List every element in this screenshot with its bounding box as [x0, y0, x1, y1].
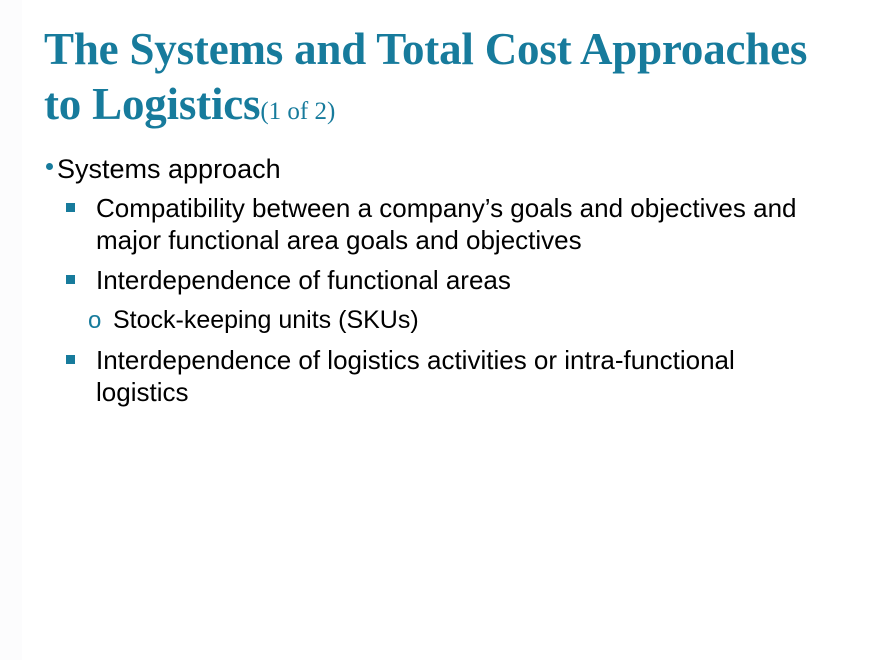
round-dot-bullet-icon — [46, 163, 53, 170]
title-line-1: The Systems and Total Cost Approaches — [44, 22, 844, 77]
square-bullet-icon — [66, 355, 75, 364]
list-item-text: Interdependence of logistics activities … — [96, 344, 844, 408]
title-line-2-text: to Logistics — [44, 79, 260, 129]
list-item: Compatibility between a company’s goals … — [44, 192, 844, 256]
list-item-text: Systems approach — [57, 152, 844, 186]
title-line-2: to Logistics(1 of 2) — [44, 77, 844, 139]
list-item-text: Compatibility between a company’s goals … — [96, 192, 844, 256]
list-item: Interdependence of logistics activities … — [44, 344, 844, 408]
square-bullet-icon — [66, 275, 75, 284]
list-item: o Stock-keeping units (SKUs) — [44, 304, 844, 336]
square-bullet-icon — [66, 203, 75, 212]
list-item: Interdependence of functional areas — [44, 264, 844, 296]
slide-title: The Systems and Total Cost Approaches to… — [44, 22, 844, 139]
slide-canvas: The Systems and Total Cost Approaches to… — [0, 0, 880, 660]
slide-body: Systems approach Compatibility between a… — [44, 152, 844, 416]
list-item-text: Interdependence of functional areas — [96, 264, 844, 296]
list-item-text: Stock-keeping units (SKUs) — [113, 304, 844, 336]
left-edge-strip — [0, 0, 22, 660]
letter-o-bullet-icon: o — [88, 307, 101, 335]
list-item: Systems approach — [44, 152, 844, 186]
title-part-indicator: (1 of 2) — [260, 98, 335, 125]
